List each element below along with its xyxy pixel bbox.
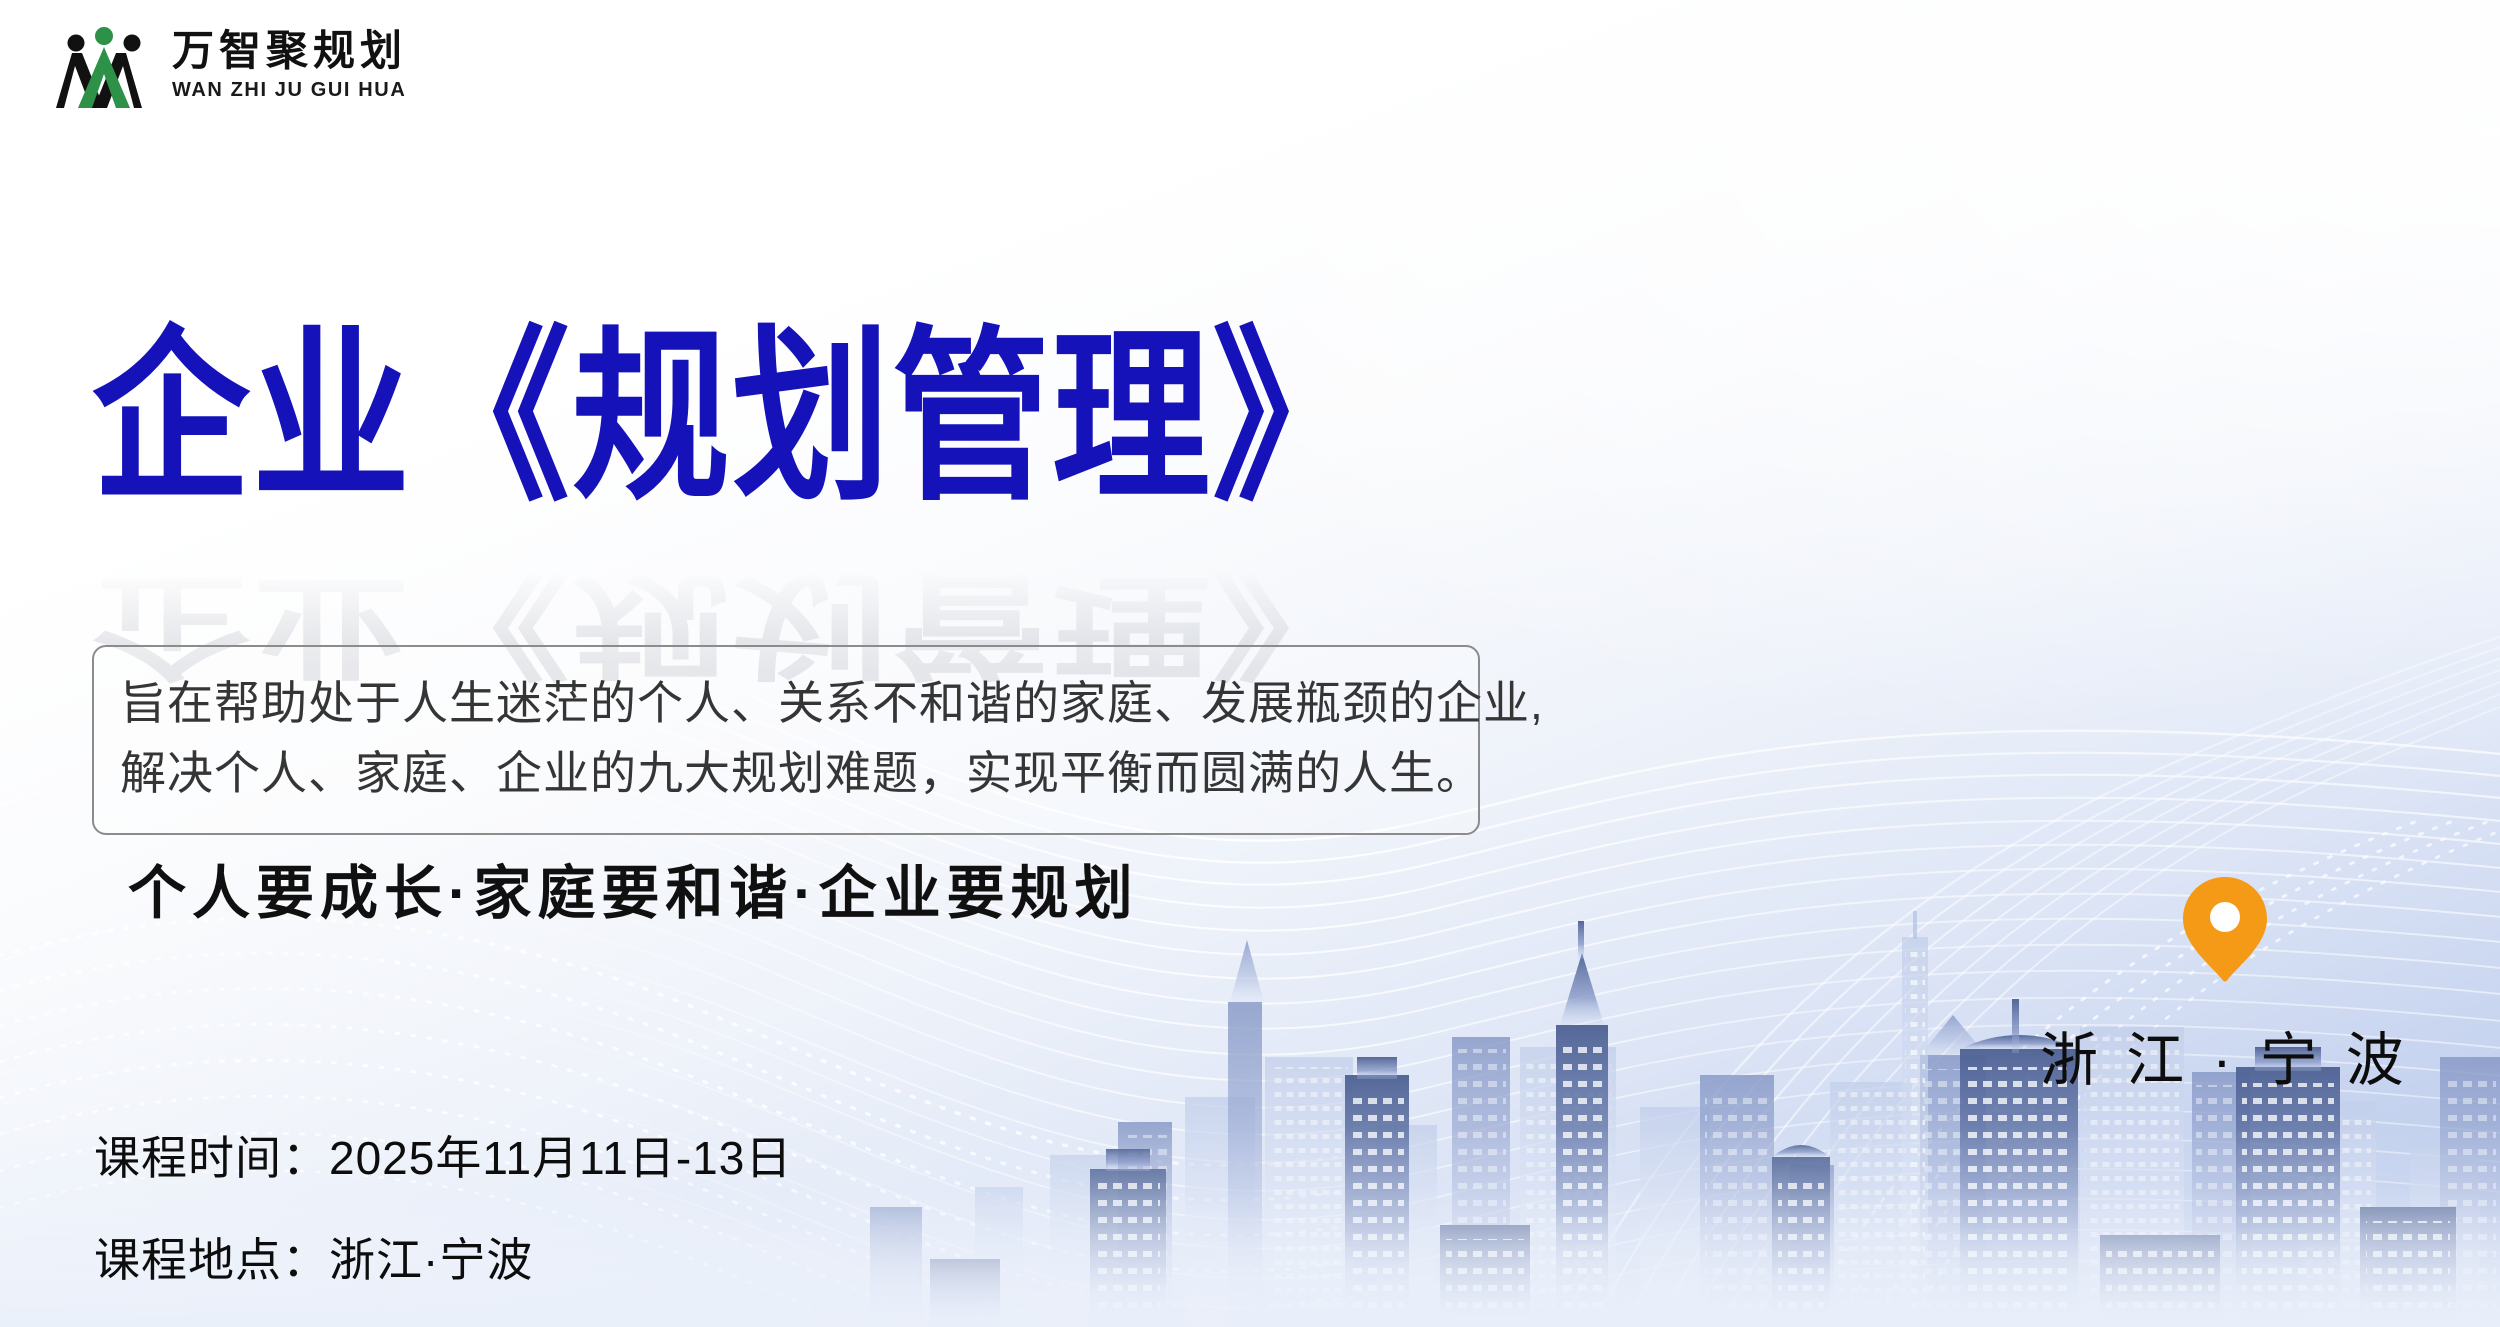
location-marker: 浙 江 · 宁 波 bbox=[2040, 875, 2410, 1097]
brand-name-cn: 万智聚规划 bbox=[172, 30, 407, 74]
map-pin-icon bbox=[2179, 875, 2271, 983]
course-time: 课程时间：2025年11月11日-13日 bbox=[94, 1122, 792, 1188]
three-people-mountain-logo-icon bbox=[52, 16, 156, 112]
brand-text: 万智聚规划 WAN ZHI JU GUI HUA bbox=[172, 30, 407, 102]
course-location: 课程地点：浙江·宁波 bbox=[94, 1224, 792, 1290]
brand-name-pinyin: WAN ZHI JU GUI HUA bbox=[172, 79, 407, 102]
location-label: 浙 江 · 宁 波 bbox=[2040, 1013, 2410, 1097]
description-line-2: 解决个人、家庭、企业的九大规划难题，实现平衡而圆满的人生。 bbox=[120, 739, 1452, 809]
tagline: 个人要成长·家庭要和谐·企业要规划 bbox=[128, 846, 1139, 930]
description-line-1: 旨在帮助处于人生迷茫的个人、关系不和谐的家庭、发展瓶颈的企业, bbox=[120, 669, 1452, 739]
poster-root: 万智聚规划 WAN ZHI JU GUI HUA 企业《规划管理》 企业《规划管… bbox=[0, 0, 2500, 1327]
brand-logo: 万智聚规划 WAN ZHI JU GUI HUA bbox=[52, 16, 407, 112]
page-title: 企业《规划管理》 bbox=[92, 318, 1692, 519]
course-info: 课程时间：2025年11月11日-13日 课程地点：浙江·宁波 bbox=[94, 1122, 792, 1290]
description-box: 旨在帮助处于人生迷茫的个人、关系不和谐的家庭、发展瓶颈的企业, 解决个人、家庭、… bbox=[92, 645, 1480, 835]
